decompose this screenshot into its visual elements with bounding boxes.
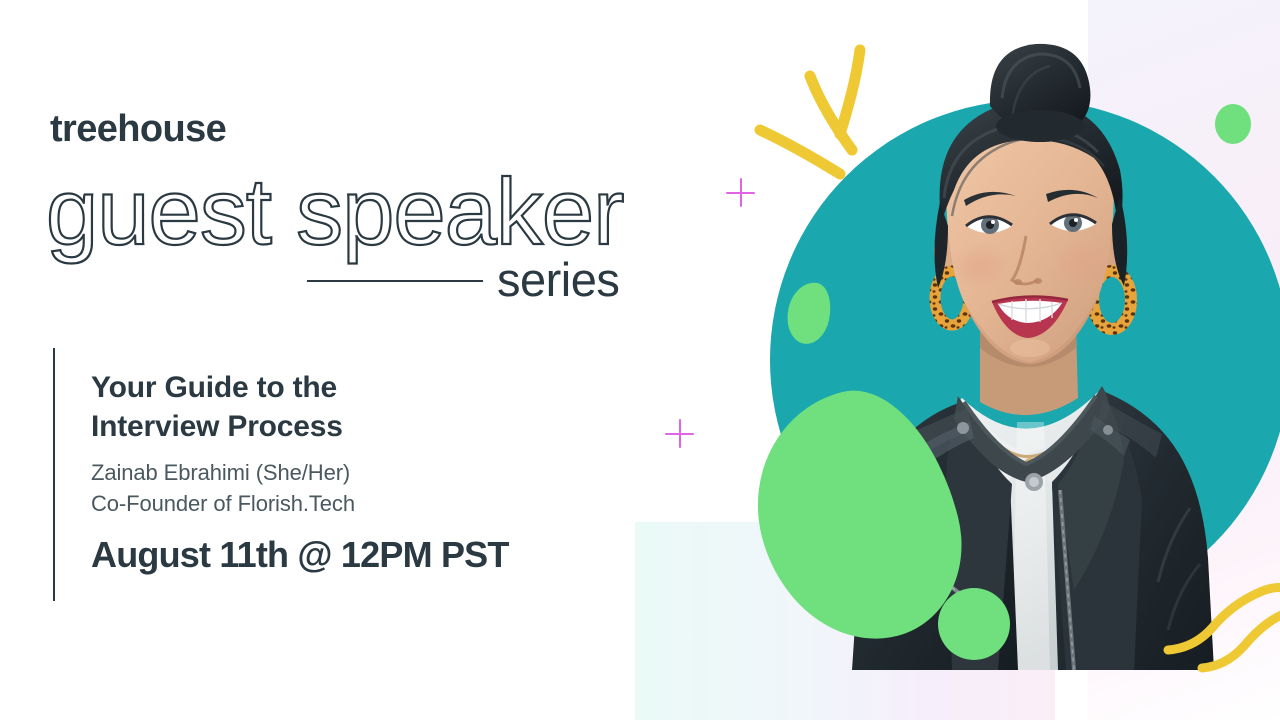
plus-mark-icon [726,178,755,207]
talk-title-line-1: Your Guide to the [91,371,337,404]
series-rule-divider [307,280,483,282]
talk-title-line-2: Interview Process [91,410,343,443]
event-datetime: August 11th @ 12PM PST [91,535,611,575]
green-dot-icon [938,588,1010,660]
yellow-wave-lines-icon [1160,570,1280,680]
headline-outline-text: guest speaker [46,160,623,264]
speaker-name: Zainab Ebrahimi (She/Her) [91,457,611,488]
series-label: series [497,256,619,303]
speaker-role: Co-Founder of Florish.Tech [91,488,611,519]
talk-details-block: Your Guide to the Interview Process Zain… [91,368,611,575]
left-vertical-divider [53,348,55,601]
slide-canvas: treehouse guest speaker series Your Guid… [0,0,1280,720]
brand-wordmark: treehouse [50,110,226,148]
plus-mark-icon [665,419,694,448]
talk-title: Your Guide to the Interview Process [91,368,611,446]
